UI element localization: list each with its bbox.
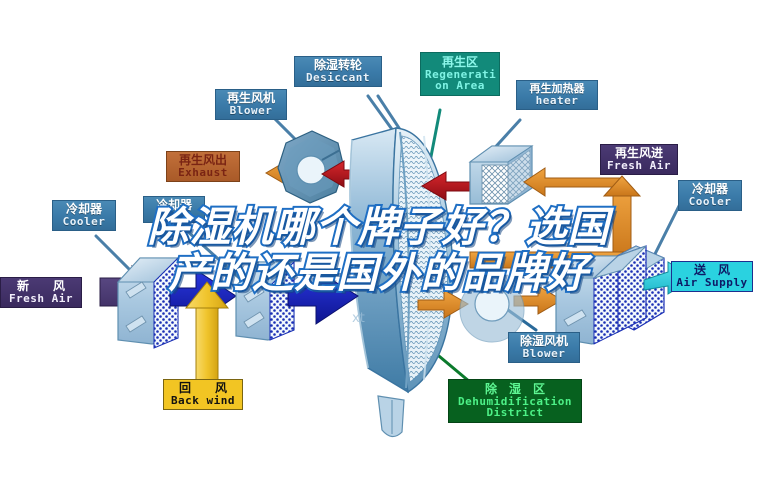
label-regeneration-fresh-air-cn: 再生风进 bbox=[605, 147, 673, 160]
label-regeneration-exhaust-en: Exhaust bbox=[171, 167, 235, 179]
label-air-supply-cn: 送 风 bbox=[676, 264, 748, 277]
label-cooler-left[interactable]: 冷却器 Cooler bbox=[52, 200, 116, 231]
label-regeneration-heater-cn: 再生加热器 bbox=[521, 83, 593, 95]
label-cooler-mid-cn: 冷却器 bbox=[148, 199, 200, 212]
label-fresh-air-inlet-cn: 新 风 bbox=[5, 280, 77, 293]
label-cooler-right-en: Cooler bbox=[683, 196, 737, 208]
label-regeneration-blower-en: Blower bbox=[220, 105, 282, 117]
label-air-supply[interactable]: 送 风 Air Supply bbox=[671, 261, 753, 292]
label-regeneration-heater-en: heater bbox=[521, 95, 593, 107]
label-back-wind[interactable]: 回 风 Back wind bbox=[163, 379, 243, 410]
label-dehumidification-district[interactable]: 除 湿 区 Dehumidification District bbox=[448, 379, 582, 423]
desiccant-rotor bbox=[350, 128, 453, 437]
label-regeneration-area-cn: 再生区 bbox=[425, 56, 495, 69]
label-fresh-air-inlet[interactable]: 新 风 Fresh Air bbox=[0, 277, 82, 308]
label-regeneration-exhaust[interactable]: 再生风出 Exhaust bbox=[166, 151, 240, 182]
label-back-wind-cn: 回 风 bbox=[168, 382, 238, 395]
label-regeneration-exhaust-cn: 再生风出 bbox=[171, 154, 235, 167]
label-regeneration-heater[interactable]: 再生加热器 heater bbox=[516, 80, 598, 110]
label-cooler-left-cn: 冷却器 bbox=[57, 203, 111, 216]
artwork-watermark: xt bbox=[352, 311, 365, 326]
label-dehumidification-district-cn: 除 湿 区 bbox=[453, 383, 577, 396]
label-cooler-mid[interactable]: 冷却器 bbox=[143, 196, 205, 223]
label-cooler-right-cn: 冷却器 bbox=[683, 183, 737, 196]
label-desiccant-wheel[interactable]: 除湿转轮 Desiccant bbox=[294, 56, 382, 87]
label-desiccant-wheel-en: Desiccant bbox=[299, 72, 377, 84]
label-back-wind-en: Back wind bbox=[168, 395, 238, 407]
dehumidifier-infographic: xt bbox=[0, 0, 757, 488]
label-cooler-left-en: Cooler bbox=[57, 216, 111, 228]
label-dehumidification-blower-en: Blower bbox=[513, 348, 575, 360]
label-regeneration-area[interactable]: 再生区 Regenerati on Area bbox=[420, 52, 500, 96]
label-regeneration-area-en2: on Area bbox=[425, 80, 495, 92]
label-fresh-air-inlet-en: Fresh Air bbox=[5, 293, 77, 305]
label-regeneration-blower-cn: 再生风机 bbox=[220, 92, 282, 105]
label-regeneration-fresh-air[interactable]: 再生风进 Fresh Air bbox=[600, 144, 678, 175]
label-dehumidification-blower[interactable]: 除湿风机 Blower bbox=[508, 332, 580, 363]
process-air-arrow-2 bbox=[288, 270, 358, 324]
label-regeneration-fresh-air-en: Fresh Air bbox=[605, 160, 673, 172]
regeneration-heater-shape bbox=[470, 146, 532, 204]
label-regeneration-blower[interactable]: 再生风机 Blower bbox=[215, 89, 287, 120]
label-desiccant-wheel-cn: 除湿转轮 bbox=[299, 59, 377, 72]
label-air-supply-en: Air Supply bbox=[676, 277, 748, 289]
label-cooler-right[interactable]: 冷却器 Cooler bbox=[678, 180, 742, 211]
label-dehumidification-blower-cn: 除湿风机 bbox=[513, 335, 575, 348]
label-dehumidification-district-en2: District bbox=[453, 407, 577, 419]
